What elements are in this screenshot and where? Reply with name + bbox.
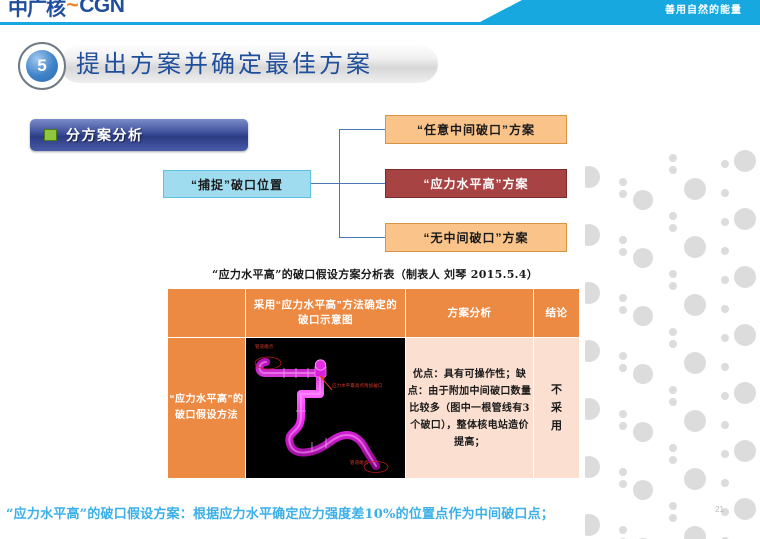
flow-node-option-1-label: “任意中间破口”方案 (417, 121, 535, 138)
cell-diagram: 管道端点 应力水平最高点附加破口 管道端点 (246, 338, 406, 479)
green-square-icon (44, 129, 57, 141)
logo-english-text: CGN (79, 0, 124, 18)
slogan-banner: 善用自然的能量 (480, 0, 760, 22)
step-number-badge: 5 (18, 42, 66, 90)
connector-line-bottom (339, 237, 385, 238)
figure-annotation-top-left: 管道端点 (255, 344, 273, 350)
flow-node-source[interactable]: “捕捉”破口位置 (163, 170, 311, 198)
analysis-table: 采用“应力水平高”方法确定的破口示意图 方案分析 结论 “应力水平高”的破口假设… (167, 288, 580, 479)
cell-analysis: 优点：具有可操作性；缺点：由于附加中间破口数量比较多（图中一根管线有3个破口），… (406, 338, 534, 479)
page-title-text: 提出方案并确定最佳方案 (76, 49, 373, 79)
pipe-routing-figure: 管道端点 应力水平最高点附加破口 管道端点 (246, 338, 405, 478)
conclusion-char-3: 用 (534, 417, 579, 435)
table-row: “应力水平高”的破口假设方法 (168, 338, 580, 479)
connector-line-top (339, 129, 385, 130)
section-header-label: 分方案分析 (66, 125, 144, 145)
cell-conclusion: 不 采 用 (534, 338, 580, 479)
connector-line-main (311, 183, 385, 184)
logo-chinese-text: 中广核 (8, 0, 65, 21)
table-header-blank (168, 289, 246, 338)
flow-node-option-2[interactable]: “应力水平高”方案 (385, 169, 567, 198)
table-header-conclusion: 结论 (534, 289, 580, 338)
flow-node-option-3-label: “无中间破口”方案 (423, 229, 528, 246)
flow-node-option-1[interactable]: “任意中间破口”方案 (385, 115, 567, 144)
flow-diagram: “捕捉”破口位置 “任意中间破口”方案 “应力水平高”方案 “无中间破口”方案 (140, 110, 590, 265)
flow-node-option-2-label: “应力水平高”方案 (423, 175, 528, 192)
company-logo: 中广核 ~ CGN (8, 0, 124, 19)
footer-note: “应力水平高”的破口假设方案：根据应力水平确定应力强度差10%的位置点作为中间破… (6, 505, 706, 525)
page-number: 21 (715, 505, 724, 514)
cell-method: “应力水平高”的破口假设方法 (168, 338, 246, 479)
slogan-text: 善用自然的能量 (665, 3, 742, 19)
connector-line-vertical (339, 129, 340, 237)
slide-header: 中广核 ~ CGN 善用自然的能量 (0, 0, 760, 26)
table-caption: “应力水平高”的破口假设方案分析表（制表人 刘琴 2015.5.4） (160, 266, 590, 282)
table-header-analysis: 方案分析 (406, 289, 534, 338)
page-title: 5 提出方案并确定最佳方案 (18, 42, 438, 86)
flow-node-source-label: “捕捉”破口位置 (191, 176, 283, 193)
slide-canvas: 中广核 ~ CGN 善用自然的能量 5 提出方案并确定最佳方案 分方案分析 “捕… (0, 0, 760, 539)
flow-node-option-3[interactable]: “无中间破口”方案 (385, 223, 567, 252)
table-header-diagram: 采用“应力水平高”方法确定的破口示意图 (246, 289, 406, 338)
conclusion-char-2: 采 (534, 399, 579, 417)
decorative-dot-pattern (585, 150, 760, 539)
table-header-row: 采用“应力水平高”方法确定的破口示意图 方案分析 结论 (168, 289, 580, 338)
figure-annotation-middle: 应力水平最高点附加破口 (332, 383, 383, 389)
header-rule (0, 22, 760, 25)
conclusion-char-1: 不 (534, 381, 579, 399)
pipe-routing-svg (246, 338, 394, 478)
logo-symbol-icon: ~ (66, 0, 78, 18)
figure-annotation-bottom-right: 管道端点 (350, 460, 368, 466)
conclusion-vertical-text: 不 采 用 (534, 381, 579, 435)
step-number-text: 5 (26, 50, 58, 82)
